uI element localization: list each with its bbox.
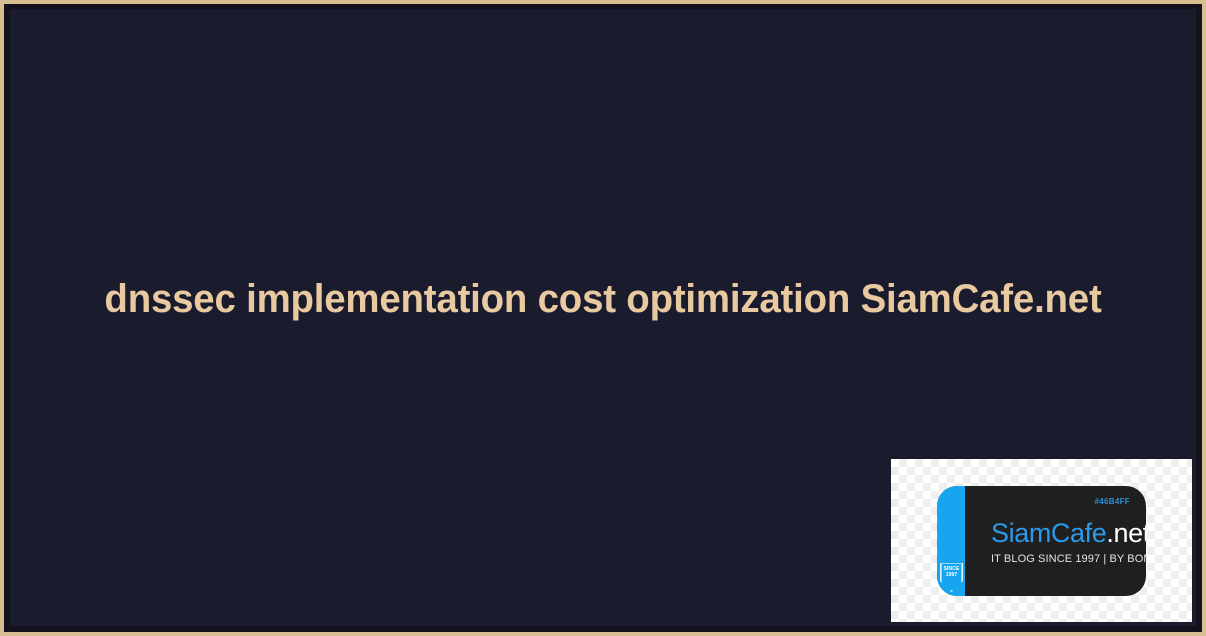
since-badge-line2: 1997 bbox=[946, 572, 958, 578]
logo-blue-stripe: SINCE 1997 bbox=[937, 486, 965, 596]
since-1997-badge-icon: SINCE 1997 bbox=[940, 563, 963, 592]
wordmark-tld-text: .net bbox=[1106, 518, 1146, 548]
logo-image-asset: SINCE 1997 #46B4FF SiamCafe.net IT BLOG … bbox=[891, 459, 1192, 622]
page-frame: dnssec implementation cost optimization … bbox=[0, 0, 1206, 636]
page-title: dnssec implementation cost optimization … bbox=[72, 277, 1134, 321]
siamcafe-logo-card: SINCE 1997 #46B4FF SiamCafe.net IT BLOG … bbox=[937, 486, 1146, 596]
wordmark-brand-text: SiamCafe bbox=[991, 518, 1106, 548]
logo-tagline: IT BLOG SINCE 1997 | BY BOM bbox=[991, 552, 1146, 566]
page-inner-band: dnssec implementation cost optimization … bbox=[4, 4, 1202, 632]
brand-hex-code-label: #46B4FF bbox=[1095, 497, 1130, 506]
headline-block: dnssec implementation cost optimization … bbox=[10, 277, 1196, 321]
slide-canvas: dnssec implementation cost optimization … bbox=[10, 9, 1196, 626]
siamcafe-wordmark: SiamCafe.net bbox=[991, 518, 1146, 548]
